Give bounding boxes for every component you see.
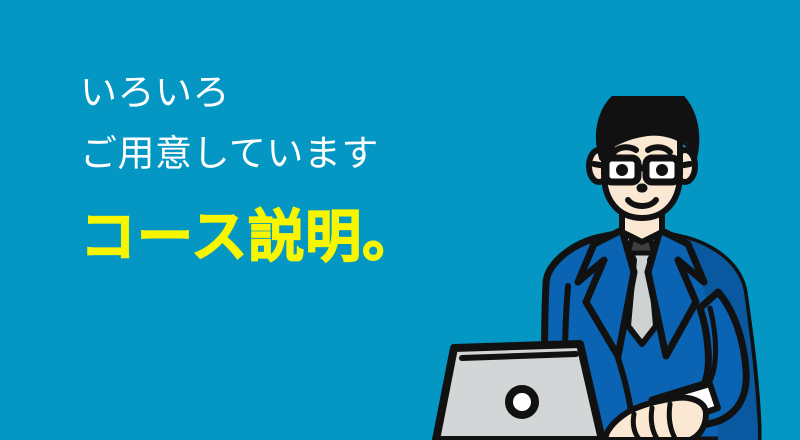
promo-banner: いろいろ ご用意しています コース説明。 — [0, 0, 800, 440]
laptop-logo-dot — [509, 389, 535, 415]
businessman-with-laptop-illustration — [418, 96, 800, 440]
laptop — [436, 344, 602, 440]
pupil-right — [656, 164, 668, 176]
pupil-left — [616, 164, 628, 176]
laptop-lid-bevel — [462, 354, 576, 358]
